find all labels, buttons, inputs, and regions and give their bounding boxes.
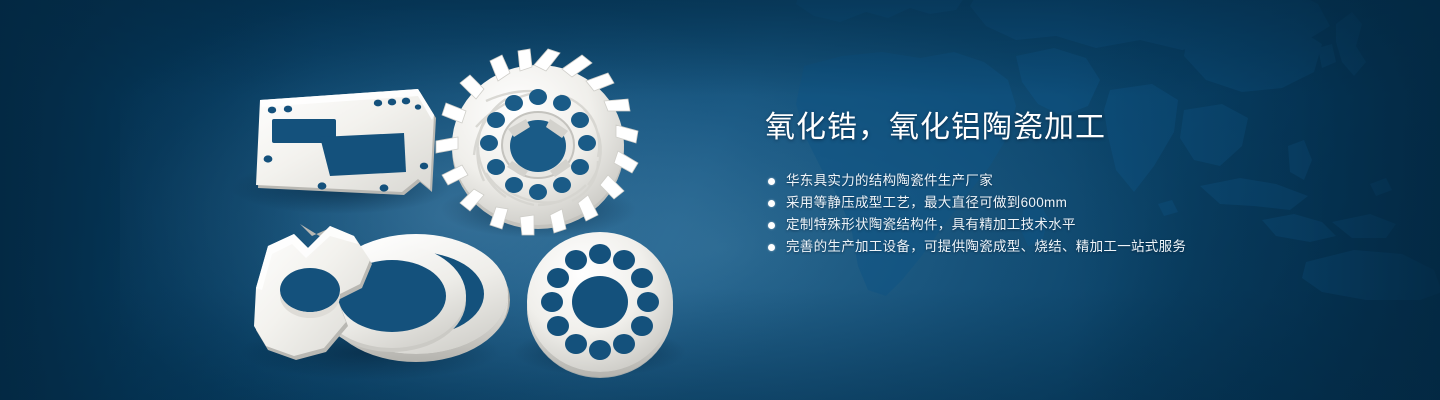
bullet-dot-icon — [768, 200, 775, 207]
list-item-label: 定制特殊形状陶瓷结构件，具有精加工技术水平 — [786, 214, 1076, 236]
bullet-dot-icon — [768, 178, 775, 185]
bullet-dot-icon — [768, 222, 775, 229]
bullet-dot-icon — [768, 244, 775, 251]
page-title: 氧化锆，氧化铝陶瓷加工 — [765, 108, 1365, 148]
list-item-label: 华东具实力的结构陶瓷件生产厂家 — [786, 170, 993, 192]
list-item: 华东具实力的结构陶瓷件生产厂家 — [768, 170, 1365, 192]
list-item: 定制特殊形状陶瓷结构件，具有精加工技术水平 — [768, 214, 1365, 236]
list-item-label: 完善的生产加工设备，可提供陶瓷成型、烧结、精加工一站式服务 — [786, 236, 1186, 258]
list-item-label: 采用等静压成型工艺，最大直径可做到600mm — [786, 192, 1067, 214]
list-item: 完善的生产加工设备，可提供陶瓷成型、烧结、精加工一站式服务 — [768, 236, 1365, 258]
list-item: 采用等静压成型工艺，最大直径可做到600mm — [768, 192, 1365, 214]
hero-banner: 氧化锆，氧化铝陶瓷加工 华东具实力的结构陶瓷件生产厂家 采用等静压成型工艺，最大… — [0, 0, 1440, 400]
banner-copy: 氧化锆，氧化铝陶瓷加工 华东具实力的结构陶瓷件生产厂家 采用等静压成型工艺，最大… — [765, 108, 1365, 258]
feature-list: 华东具实力的结构陶瓷件生产厂家 采用等静压成型工艺，最大直径可做到600mm 定… — [765, 170, 1365, 258]
